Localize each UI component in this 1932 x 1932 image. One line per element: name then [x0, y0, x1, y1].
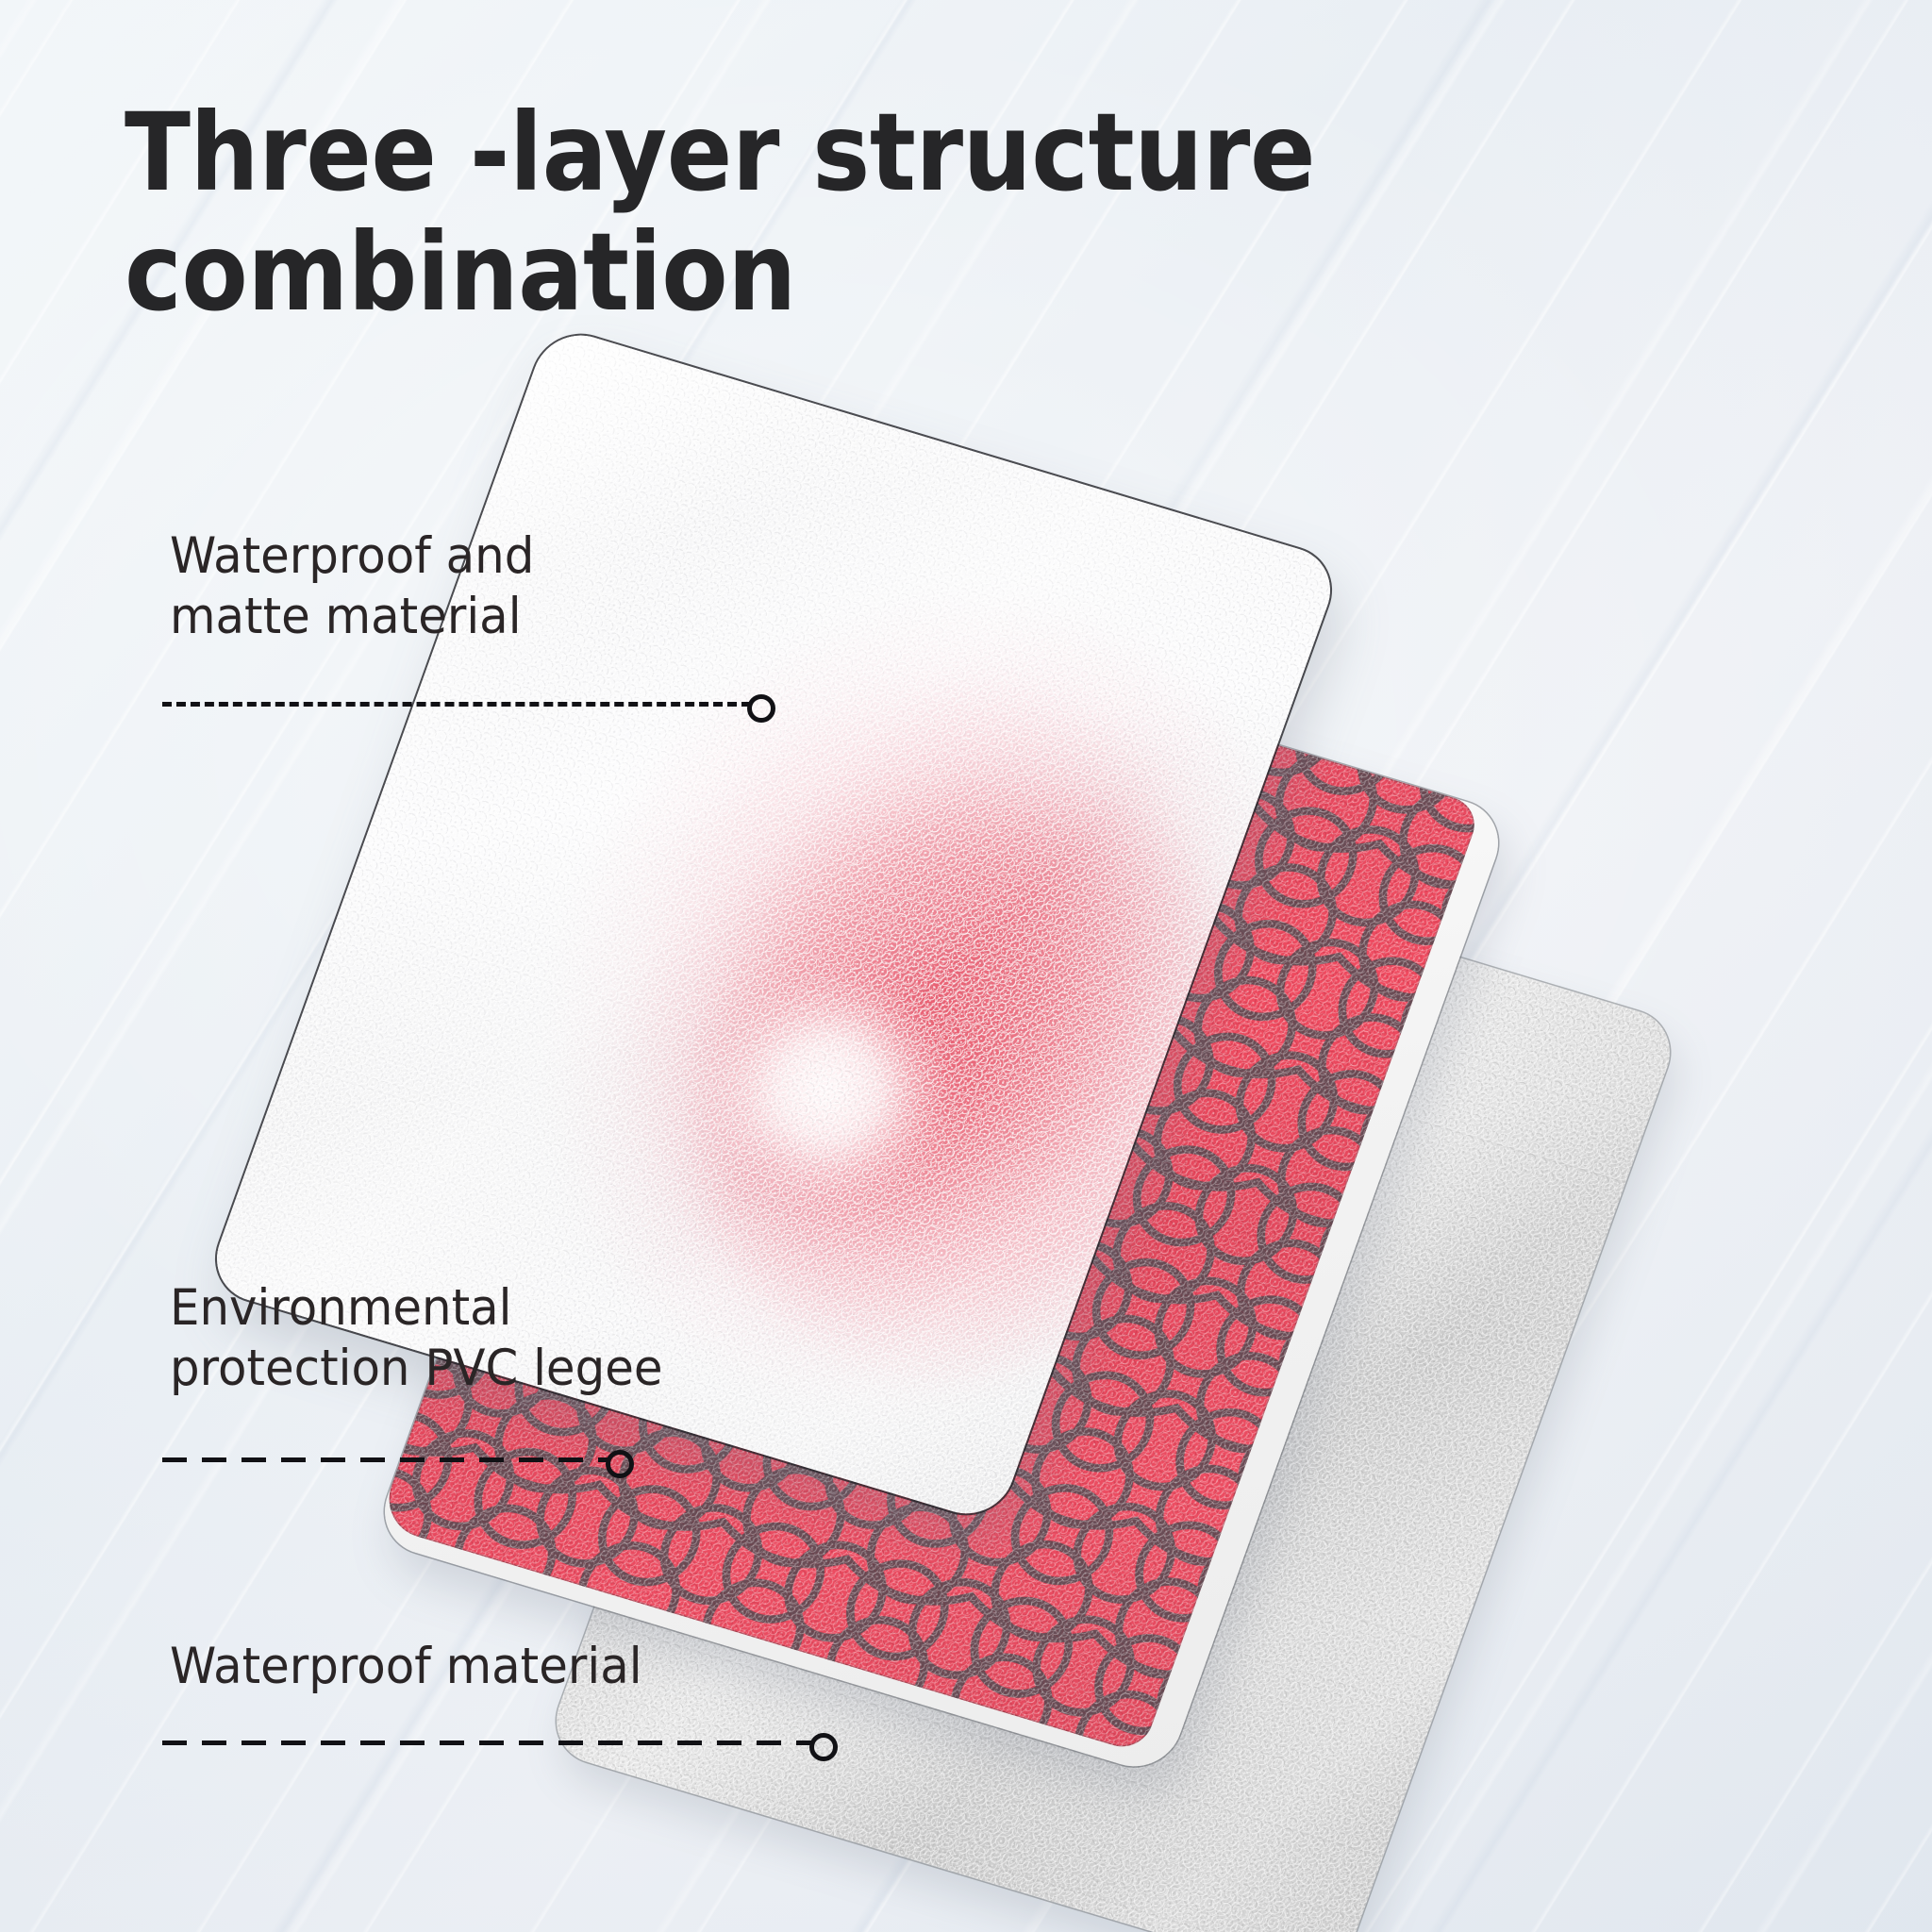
- leader-line-middle-layer: [162, 1457, 634, 1462]
- leader-dash-top-layer: [162, 702, 751, 707]
- callout-top-layer: Waterproof and matte material: [170, 526, 558, 647]
- leader-dash-middle-layer: [162, 1457, 609, 1462]
- callout-bottom-layer: Waterproof material: [170, 1637, 673, 1697]
- leader-dash-bottom-layer: [162, 1740, 813, 1745]
- callout-top-layer-label: Waterproof and matte material: [170, 526, 534, 647]
- page-title: Three -layer structure combination: [125, 92, 1445, 332]
- leader-endpoint-circle-bottom-layer: [809, 1733, 838, 1761]
- page-title-line-1: Three -layer structure: [125, 92, 1313, 212]
- callout-bottom-layer-label: Waterproof material: [170, 1637, 642, 1697]
- callout-middle-layer-label: Environmental protection PVC legee: [170, 1278, 663, 1399]
- infographic-canvas: Three -layer structure combination Water…: [0, 0, 1932, 1932]
- leader-endpoint-circle-top-layer: [747, 694, 775, 723]
- leader-endpoint-circle-middle-layer: [606, 1450, 634, 1478]
- leader-line-top-layer: [162, 702, 775, 707]
- leader-line-bottom-layer: [162, 1740, 838, 1745]
- callout-middle-layer: Environmental protection PVC legee: [170, 1278, 694, 1399]
- page-title-line-2: combination: [125, 212, 1313, 332]
